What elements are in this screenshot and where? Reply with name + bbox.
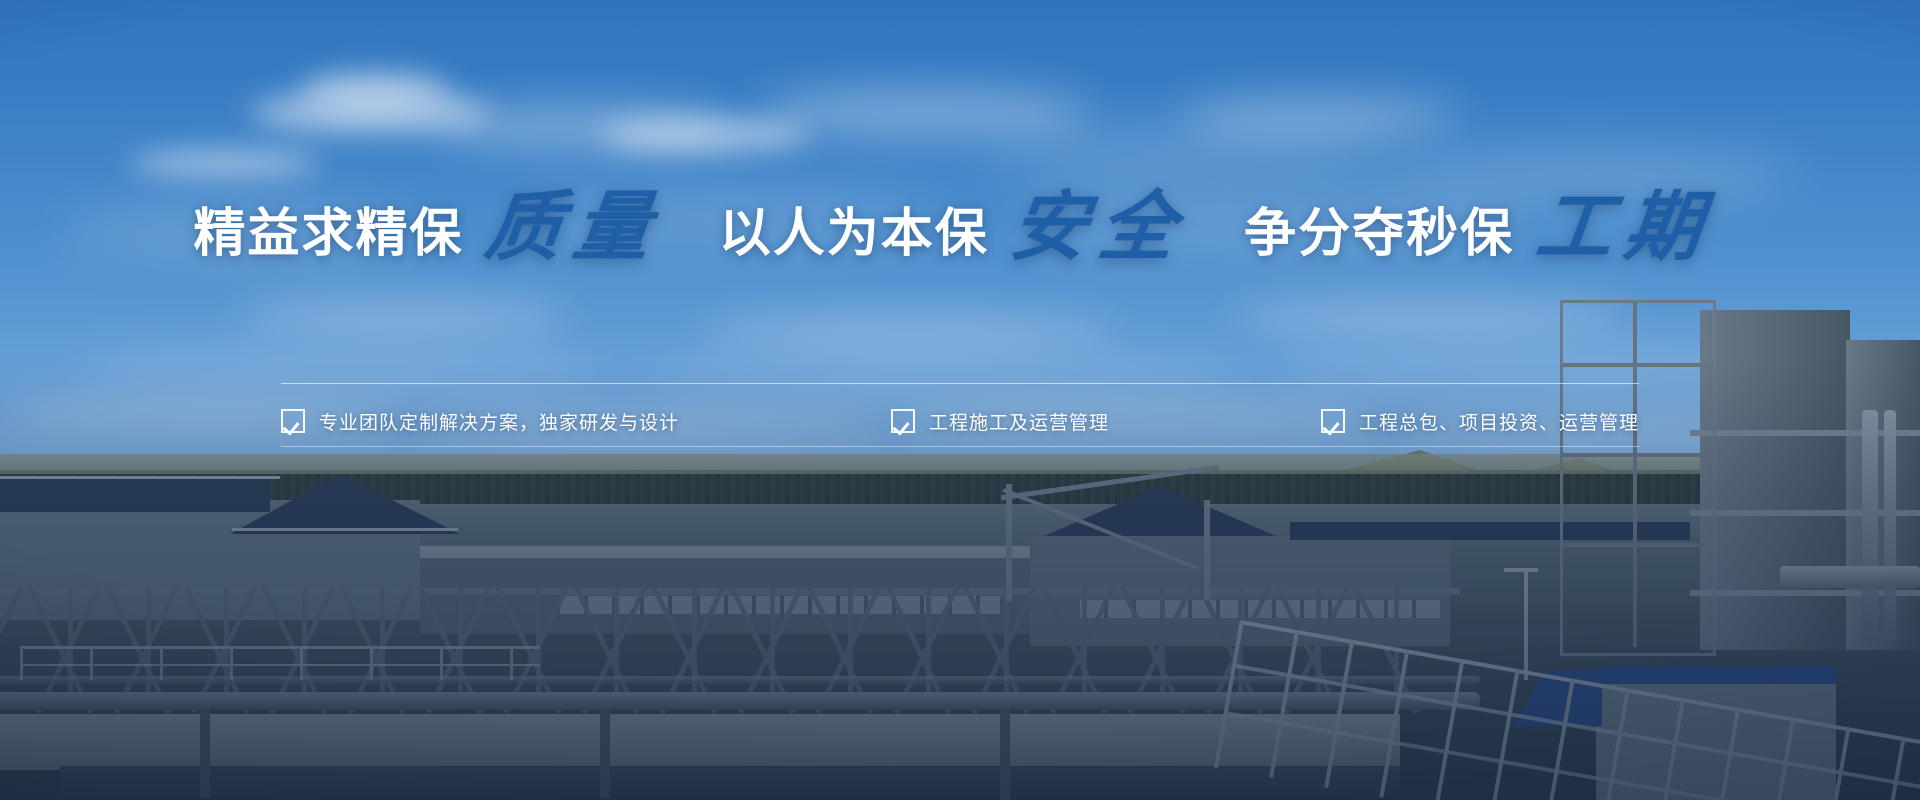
divider-bottom bbox=[281, 446, 1639, 447]
feature-item-3: 工程总包、项目投资、运营管理 bbox=[1321, 396, 1639, 446]
feature-label-2: 工程施工及运营管理 bbox=[929, 408, 1109, 435]
headline: 精益求精保 质量 以人为本保 安全 争分夺秒保 工期 bbox=[0, 196, 1920, 272]
headline-calligraphy-safety: 安全 bbox=[989, 190, 1206, 266]
headline-segment-1: 精益求精保 bbox=[193, 208, 463, 260]
headline-segment-3: 争分夺秒保 bbox=[1244, 208, 1514, 260]
feature-item-1: 专业团队定制解决方案，独家研发与设计 bbox=[281, 396, 679, 446]
divider-top bbox=[281, 383, 1639, 384]
feature-item-2: 工程施工及运营管理 bbox=[891, 396, 1109, 446]
feature-list: 专业团队定制解决方案，独家研发与设计 工程施工及运营管理 工程总包、项目投资、运… bbox=[281, 396, 1639, 446]
feature-label-3: 工程总包、项目投资、运营管理 bbox=[1359, 408, 1639, 435]
headline-segment-2: 以人为本保 bbox=[719, 208, 989, 260]
feature-label-1: 专业团队定制解决方案，独家研发与设计 bbox=[319, 408, 679, 435]
hero-banner: 精益求精保 质量 以人为本保 安全 争分夺秒保 工期 专业团队定制解决方案，独家… bbox=[0, 0, 1920, 800]
checkbox-checked-icon bbox=[891, 409, 915, 433]
headline-calligraphy-schedule: 工期 bbox=[1514, 190, 1731, 266]
checkbox-checked-icon bbox=[1321, 409, 1345, 433]
headline-calligraphy-quality: 质量 bbox=[463, 190, 680, 266]
banner-text-overlay: 精益求精保 质量 以人为本保 安全 争分夺秒保 工期 专业团队定制解决方案，独家… bbox=[0, 0, 1920, 800]
checkbox-checked-icon bbox=[281, 409, 305, 433]
